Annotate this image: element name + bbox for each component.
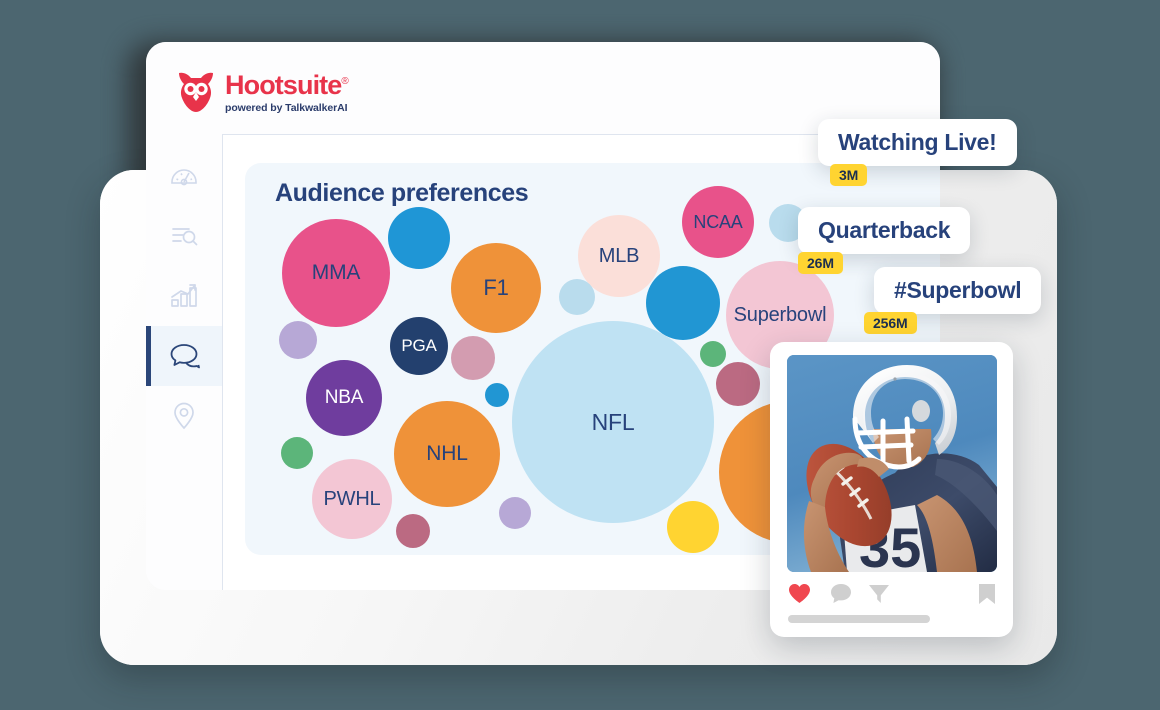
- bubble-dot-5[interactable]: [559, 279, 595, 315]
- logo-wordmark: Hootsuite®: [225, 72, 348, 99]
- comment-icon[interactable]: [830, 583, 852, 609]
- bubble-dot-13[interactable]: [485, 383, 509, 407]
- bookmark-icon[interactable]: [978, 583, 996, 610]
- bubble-dot-16[interactable]: [716, 362, 760, 406]
- bubble-mma[interactable]: MMA: [282, 219, 390, 327]
- bubble-nfl[interactable]: NFL: [512, 321, 714, 523]
- bubble-f1[interactable]: F1: [451, 243, 541, 333]
- share-icon[interactable]: [868, 583, 890, 609]
- bubble-nba[interactable]: NBA: [306, 360, 382, 436]
- sidebar-item-conversations[interactable]: [146, 326, 222, 386]
- bubble-pwhl[interactable]: PWHL: [312, 459, 392, 539]
- social-post-card[interactable]: 35: [770, 342, 1013, 637]
- bubble-dot-10[interactable]: [279, 321, 317, 359]
- heart-icon[interactable]: [788, 583, 811, 609]
- bubble-dot-21[interactable]: [499, 497, 531, 529]
- tooltip-quarterback[interactable]: Quarterback: [798, 207, 970, 254]
- badge-quarterback: 26M: [798, 252, 843, 274]
- screenshot-root: Hootsuite® powered by TalkwalkerAI: [0, 0, 1160, 710]
- sidebar-nav: [146, 134, 223, 590]
- sidebar-item-dashboard[interactable]: [146, 146, 222, 206]
- tooltip-label: Quarterback: [818, 217, 950, 244]
- sidebar-item-search[interactable]: [146, 206, 222, 266]
- tooltip-watching-live[interactable]: Watching Live!: [818, 119, 1017, 166]
- post-action-bar: [788, 583, 996, 605]
- sidebar-item-analytics[interactable]: [146, 266, 222, 326]
- map-pin-icon: [171, 401, 197, 431]
- badge-superbowl-hashtag: 256M: [864, 312, 917, 334]
- post-caption-placeholder: [788, 615, 930, 623]
- sidebar-item-locations[interactable]: [146, 386, 222, 446]
- page-title: Audience preferences: [275, 179, 528, 208]
- bubble-dot-11[interactable]: [451, 336, 495, 380]
- tooltip-superbowl-hashtag[interactable]: #Superbowl: [874, 267, 1041, 314]
- bubble-pga[interactable]: PGA: [390, 317, 448, 375]
- tooltip-label: Watching Live!: [838, 129, 997, 156]
- logo-tagline: powered by TalkwalkerAI: [225, 102, 348, 114]
- bubble-dot-1[interactable]: [388, 207, 450, 269]
- bar-chart-trend-icon: [169, 282, 199, 310]
- badge-watching-live: 3M: [830, 164, 867, 186]
- bubble-dot-18[interactable]: [281, 437, 313, 469]
- bubble-dot-22[interactable]: [667, 501, 719, 553]
- brand-logo[interactable]: Hootsuite® powered by TalkwalkerAI: [176, 71, 348, 115]
- gauge-icon: [169, 161, 199, 191]
- chat-bubbles-icon: [168, 342, 200, 370]
- owl-icon: [176, 71, 216, 115]
- bubble-dot-7[interactable]: [646, 266, 720, 340]
- search-list-icon: [169, 222, 199, 250]
- bubble-nhl[interactable]: NHL: [394, 401, 500, 507]
- tooltip-label: #Superbowl: [894, 277, 1021, 304]
- bubble-dot-20[interactable]: [396, 514, 430, 548]
- post-image: 35: [787, 355, 997, 572]
- bubble-ncaa[interactable]: NCAA: [682, 186, 754, 258]
- bubble-dot-15[interactable]: [700, 341, 726, 367]
